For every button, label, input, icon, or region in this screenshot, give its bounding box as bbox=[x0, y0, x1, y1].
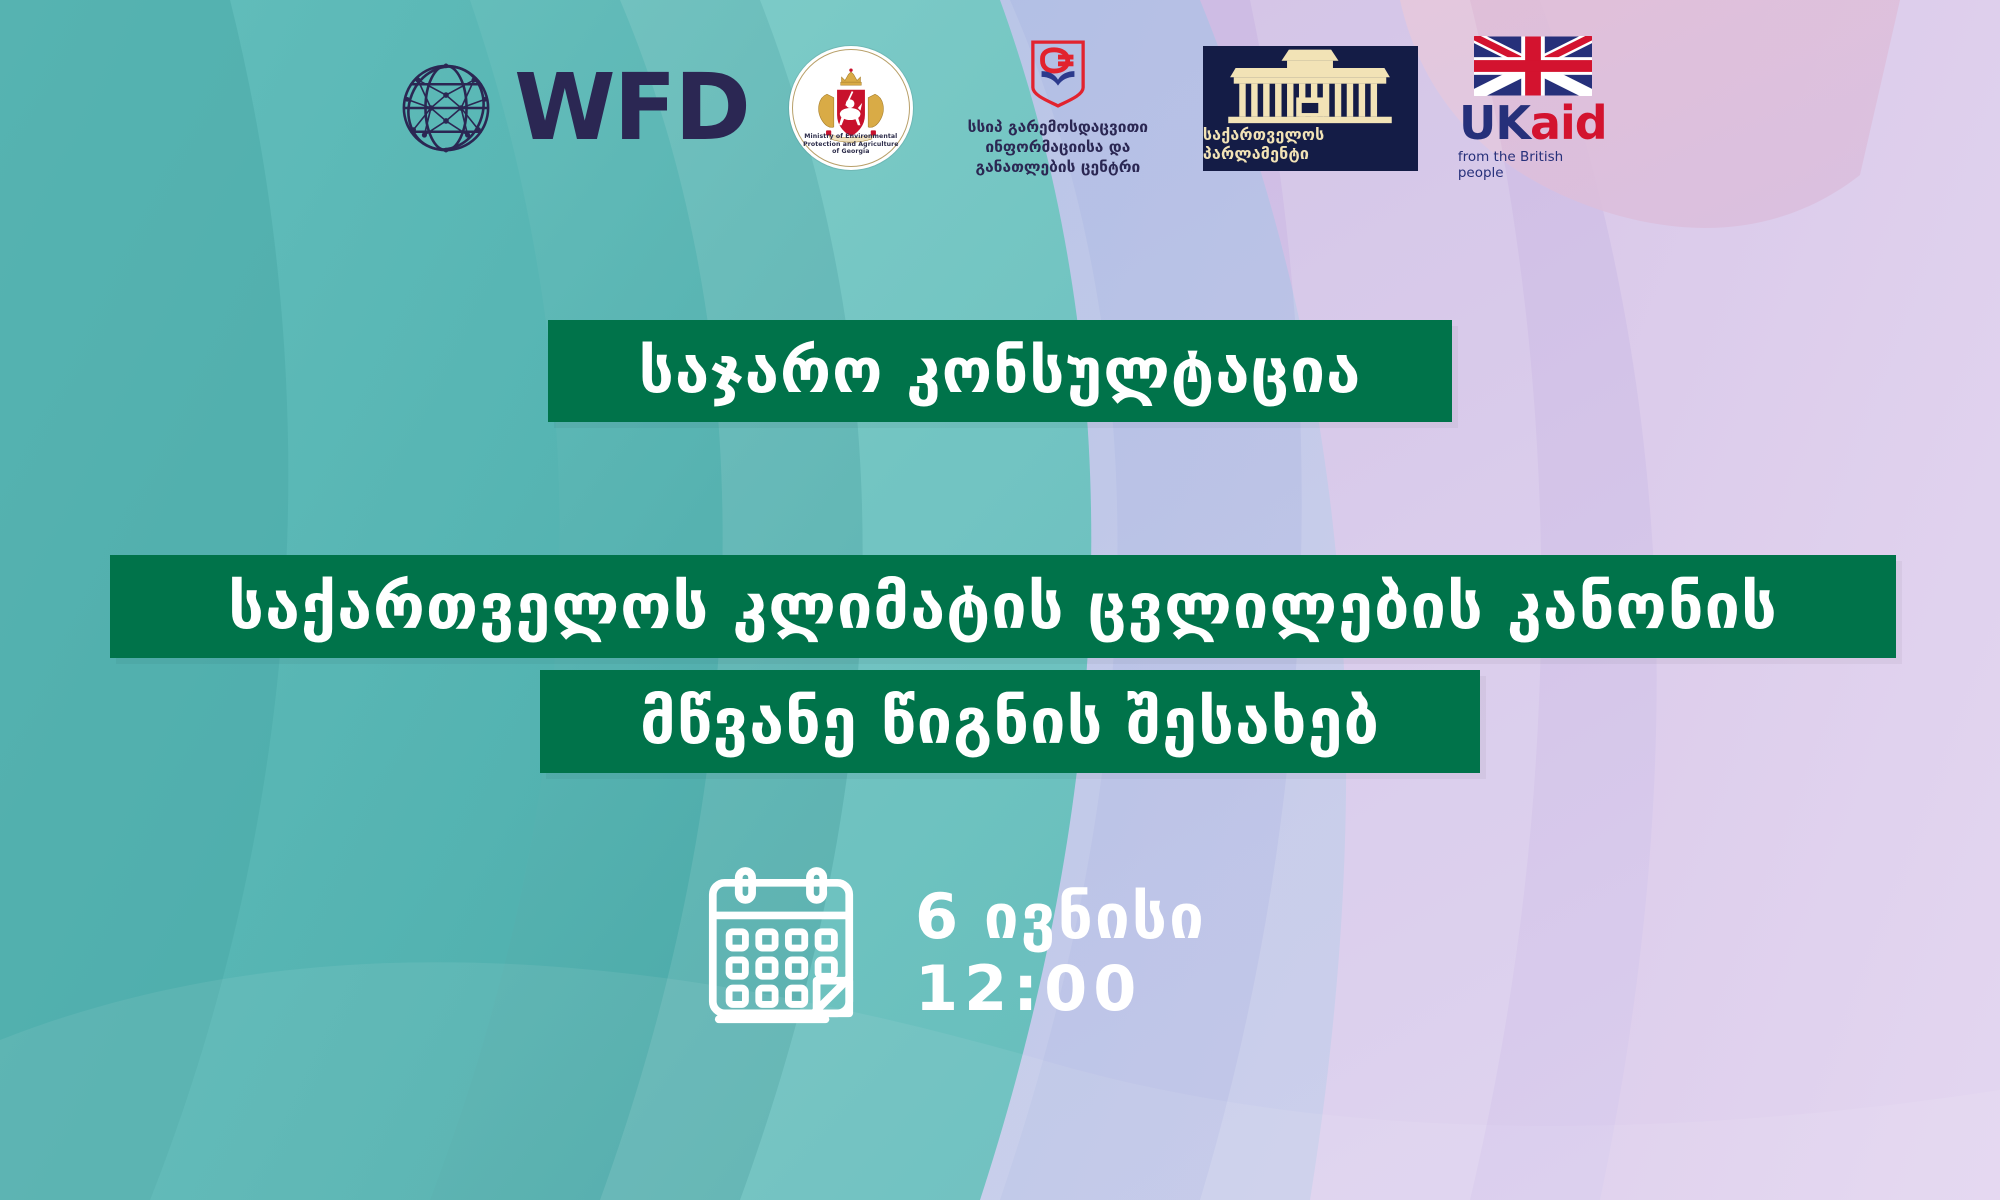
ukaid-wordmark: UKaid bbox=[1459, 100, 1607, 146]
eco-center-caption: სსიპ გარემოსდაცვითი ინფორმაციისა და განა… bbox=[968, 117, 1148, 177]
ministry-of-environmental-protection-and-agriculture-logo: Ministry of Environmental Protection and… bbox=[789, 46, 913, 170]
title-banner-line-2: მწვანე წიგნის შესახებ bbox=[540, 670, 1480, 773]
wfd-logo: WFD bbox=[392, 54, 749, 162]
title-line-2-text: მწვანე წიგნის შესახებ bbox=[640, 690, 1380, 753]
event-datetime-block: 6 ივნისი 12:00 bbox=[700, 865, 1206, 1040]
wfd-wordmark: WFD bbox=[514, 62, 749, 154]
title-banner-line-1: საქართველოს კლიმატის ცვლილების კანონის bbox=[110, 555, 1896, 658]
ministry-caption: Ministry of Environmental Protection and… bbox=[789, 133, 913, 156]
uk-aid-logo: UKaid from the British people bbox=[1458, 36, 1608, 181]
parliament-building-icon bbox=[1215, 46, 1405, 125]
parliament-caption: საქართველოს პარლამენტი bbox=[1203, 125, 1418, 163]
title-line-1-text: საქართველოს კლიმატის ცვლილების კანონის bbox=[228, 575, 1778, 638]
event-datetime-text: 6 ივნისი 12:00 bbox=[915, 881, 1206, 1024]
heading-text: საჯარო კონსულტაცია bbox=[639, 340, 1362, 402]
ukaid-aid-text: aid bbox=[1530, 96, 1607, 150]
ukaid-tagline: from the British people bbox=[1458, 149, 1608, 181]
event-date: 6 ივნისი bbox=[915, 881, 1206, 952]
ukaid-uk-text: UK bbox=[1459, 96, 1530, 150]
union-jack-flag-icon bbox=[1474, 36, 1592, 96]
globe-wireframe-icon bbox=[392, 54, 500, 162]
poster-root: WFD bbox=[0, 0, 2000, 1200]
heading-banner: საჯარო კონსულტაცია bbox=[548, 320, 1452, 422]
shield-book-icon bbox=[1029, 39, 1087, 109]
calendar-icon bbox=[700, 865, 865, 1040]
parliament-of-georgia-logo: საქართველოს პარლამენტი bbox=[1203, 46, 1418, 171]
partner-logo-bar: WFD bbox=[0, 28, 2000, 188]
event-time: 12:00 bbox=[915, 953, 1206, 1024]
environmental-information-and-education-center-logo: სსიპ გარემოსდაცვითი ინფორმაციისა და განა… bbox=[953, 39, 1163, 177]
